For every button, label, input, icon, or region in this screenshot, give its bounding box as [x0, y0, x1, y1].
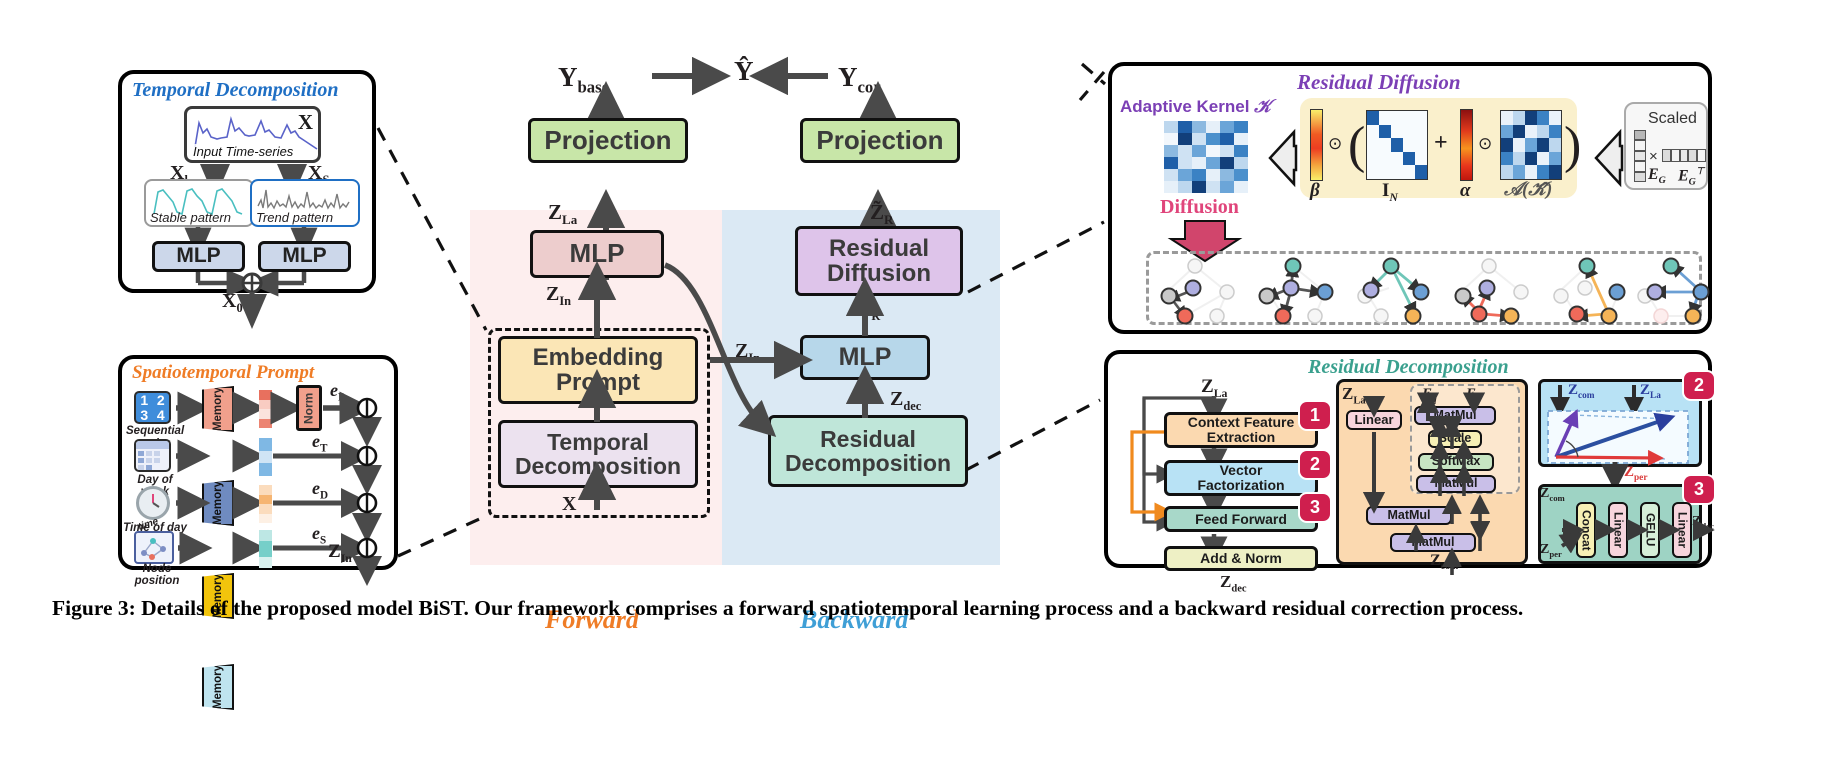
- step-badge-3: 3: [1300, 494, 1330, 521]
- ff-arrows: [1538, 484, 1718, 564]
- caption-text: Details of the proposed model BiST. Our …: [141, 596, 1523, 620]
- eg-row-bar: [1662, 149, 1706, 162]
- eg-column-bar: [1634, 130, 1646, 182]
- scaled-times: ×: [1649, 148, 1658, 165]
- vf-to-ff-arrow: [1606, 462, 1626, 486]
- open-paren: (: [1348, 116, 1365, 175]
- alpha-colorbar: [1460, 109, 1473, 181]
- panel-diffusion-title: Residual Diffusion: [1297, 70, 1461, 95]
- odot-2: ⊙: [1478, 134, 1492, 154]
- plus-symbol: +: [1434, 130, 1448, 157]
- adjacency-symbol: 𝒜(𝒦̂): [1504, 179, 1552, 201]
- diffusion-label: Diffusion: [1160, 196, 1239, 219]
- kernel-left-chevron: [1258, 128, 1296, 188]
- identity-symbol: IN: [1382, 180, 1398, 205]
- diffusion-graph-strip: [1146, 251, 1702, 325]
- feed-forward-box: Feed Forward: [1164, 506, 1318, 532]
- adaptive-kernel-heatmap: [1164, 121, 1248, 193]
- vector-factorization-box: VectorFactorization: [1164, 460, 1318, 496]
- beta-symbol: β: [1310, 180, 1320, 202]
- panel-residual-diffusion: Residual Diffusion Adaptive Kernel 𝒦 Dif…: [1108, 62, 1712, 334]
- caption-label: Figure 3:: [52, 596, 136, 620]
- panel-residual-decomposition: Residual Decomposition ZLa Context Featu…: [1104, 350, 1712, 568]
- label-eg: EG: [1648, 166, 1666, 186]
- label-eg-transpose: EG⊤: [1678, 166, 1704, 188]
- vector-factorization-diagram: [1538, 379, 1702, 471]
- close-paren: ): [1564, 116, 1581, 175]
- label-z-per: Zper: [1624, 464, 1647, 483]
- odot-1: ⊙: [1328, 134, 1342, 154]
- context-feature-extraction-box: Context FeatureExtraction: [1164, 412, 1318, 448]
- step-badge-2: 2: [1300, 451, 1330, 478]
- scaled-title: Scaled: [1648, 110, 1697, 128]
- add-norm-box: Add & Norm: [1164, 546, 1318, 571]
- formula-left-chevron: [1584, 128, 1622, 188]
- beta-colorbar: [1310, 109, 1323, 181]
- adjacency-matrix-image: [1500, 110, 1562, 180]
- attention-arrows: [1336, 379, 1536, 579]
- identity-matrix-image: [1366, 110, 1428, 180]
- adaptive-kernel-label: Adaptive Kernel 𝒦: [1120, 96, 1271, 117]
- step-badge-1: 1: [1300, 402, 1330, 429]
- alpha-symbol: α: [1460, 180, 1471, 202]
- scaled-box: Scaled × EG EG⊤: [1624, 102, 1708, 190]
- figure-caption: Figure 3: Details of the proposed model …: [52, 592, 1776, 624]
